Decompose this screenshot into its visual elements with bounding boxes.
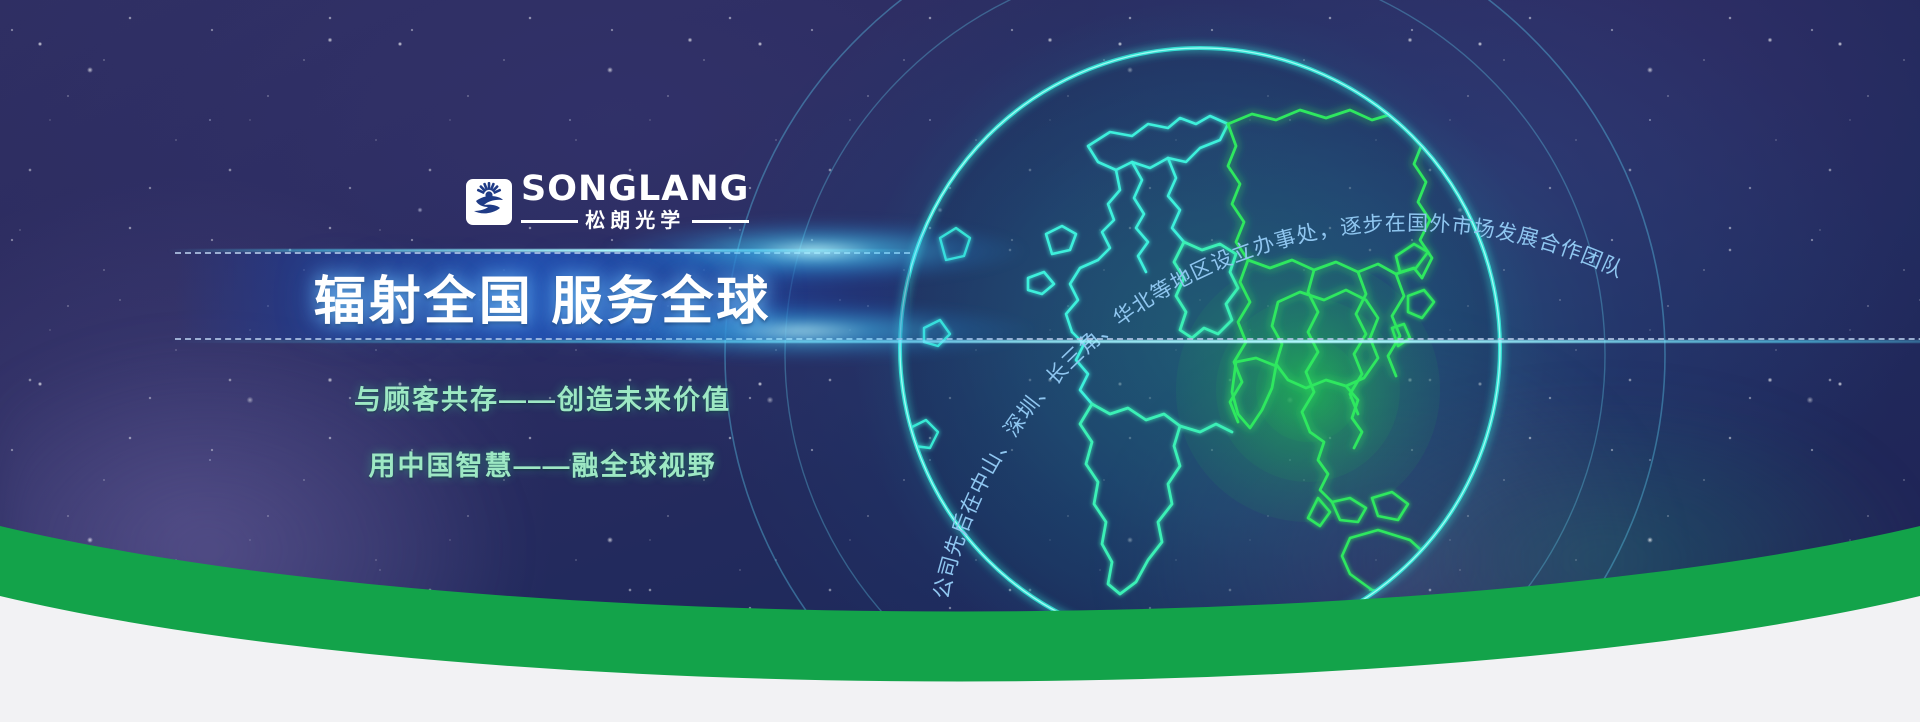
- subtitle-line-2: 用中国智慧——融全球视野: [175, 444, 910, 483]
- subtitle-group: 与顾客共存——创造未来价值 用中国智慧——融全球视野: [175, 378, 910, 483]
- bottom-curve-divider: [0, 492, 1920, 722]
- logo-rule-right: [692, 220, 749, 223]
- logo-rule-left: [521, 220, 578, 223]
- logo-chinese-row: 松朗光学: [521, 211, 749, 231]
- logo-chinese-name: 松朗光学: [585, 211, 685, 231]
- brand-logo[interactable]: SONGLANG 松朗光学: [466, 172, 749, 231]
- logo-wordmark: SONGLANG: [521, 172, 749, 207]
- hero-banner: 公司先后在中山、深圳、长三角、华北等地区设立办事处，逐步在国外市场发展合作团队 …: [0, 0, 1920, 722]
- sunburst-s-logo-icon: [466, 179, 512, 225]
- headline-band: 辐射全国 服务全球: [175, 252, 910, 340]
- subtitle-line-1: 与顾客共存——创造未来价值: [175, 378, 910, 417]
- logo-typography: SONGLANG 松朗光学: [521, 172, 749, 231]
- band-glow-rail-bottom: [167, 340, 1920, 343]
- headline-text: 辐射全国 服务全球: [175, 252, 910, 340]
